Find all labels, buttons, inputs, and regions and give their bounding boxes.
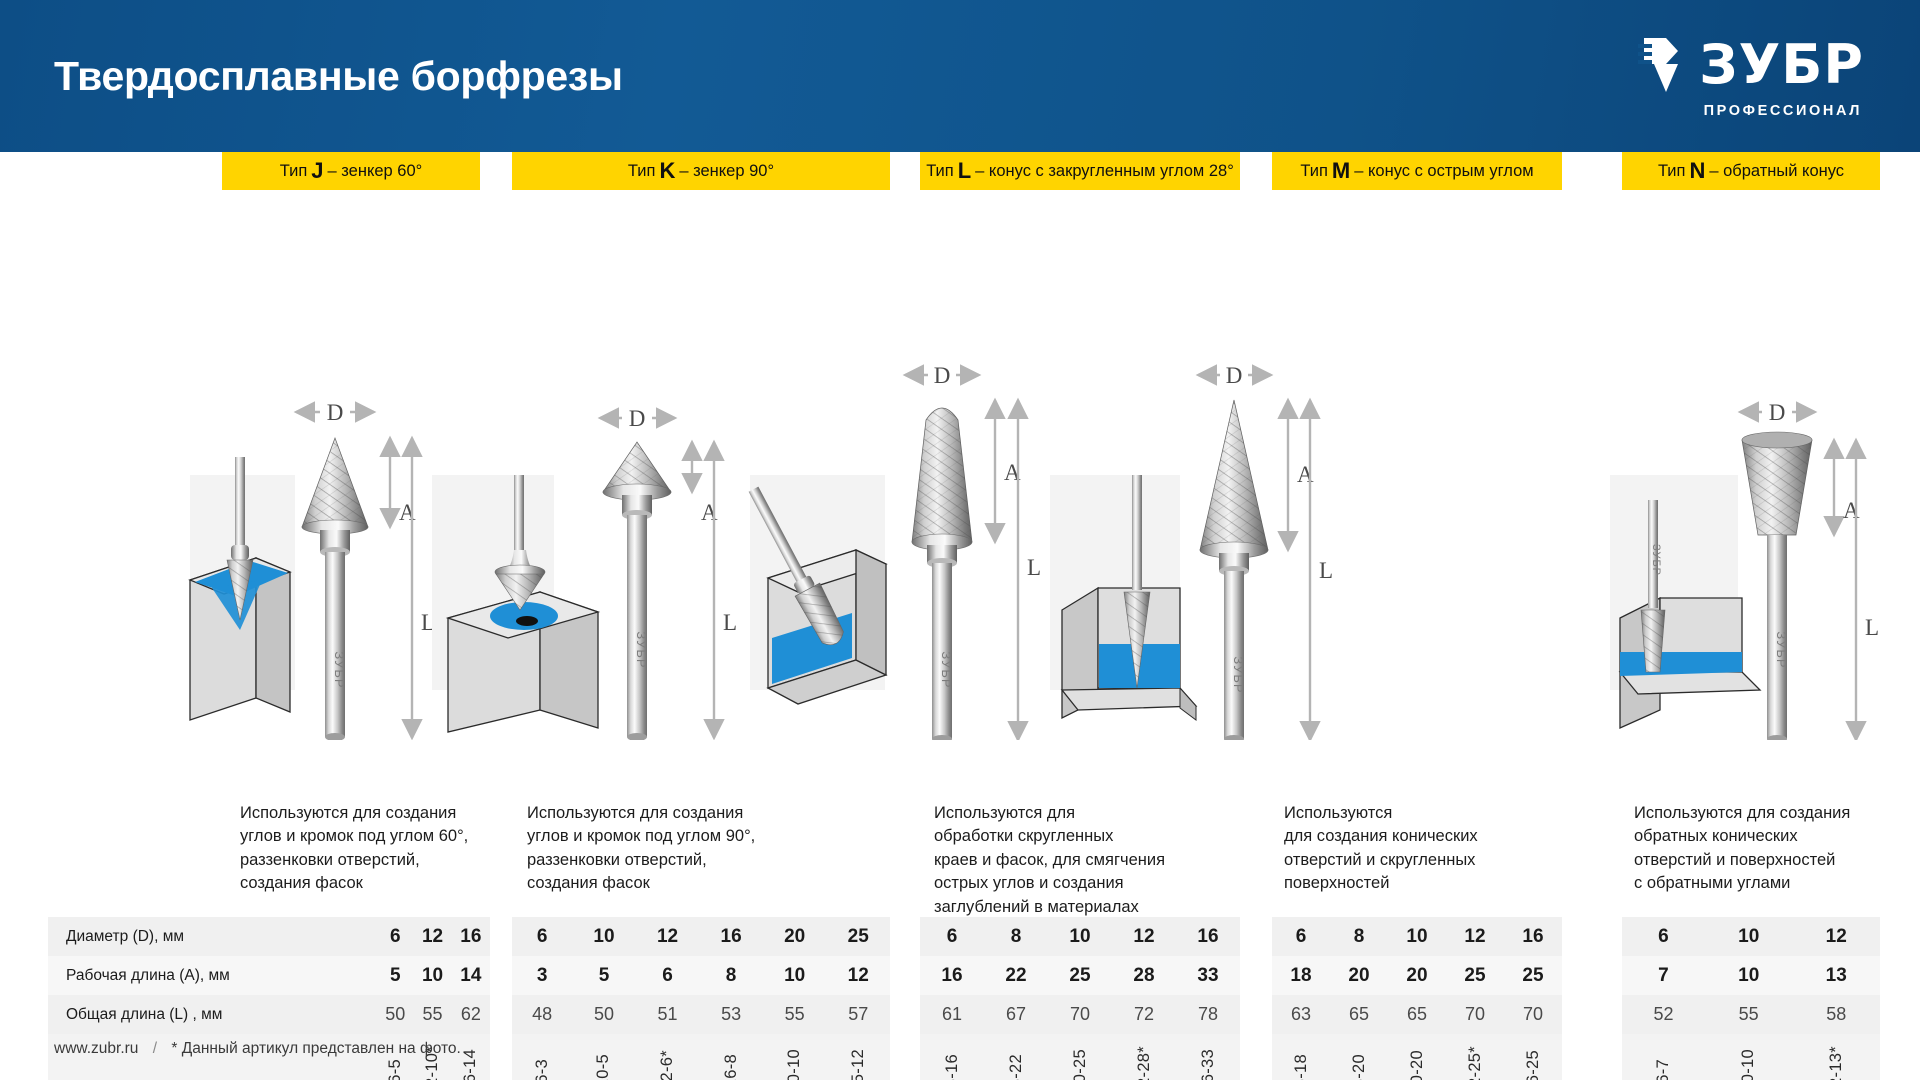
type-tag-k: Тип K – зенкер 90° (512, 152, 890, 190)
cell-value: 3 (512, 956, 572, 995)
table-row-working-length: 16 22 25 28 33 (920, 956, 1240, 995)
spec-table-k: 6 10 12 16 20 25 3 5 6 8 10 12 48 50 51 … (512, 917, 890, 1080)
cell-value: 70 (1504, 995, 1562, 1034)
cell-article: 28812-12-13* (1792, 1034, 1880, 1080)
cell-value: 12 (826, 956, 890, 995)
article-text: 28809-25-12 (849, 1049, 868, 1080)
article-text: 28810-10-25 (1071, 1049, 1090, 1080)
article-text: 28811-8-20 (1350, 1054, 1369, 1080)
svg-text:A: A (1297, 462, 1314, 487)
svg-text:D: D (934, 363, 951, 388)
svg-text:ЗУБР: ЗУБР (634, 631, 649, 668)
svg-text:L: L (1319, 558, 1333, 583)
row-label-total-length: Общая длина (L) , мм (48, 995, 377, 1034)
cell-value: 12 (1112, 917, 1176, 956)
table-row-article: 28809-6-3 28809-10-5 28809-12-6* 28809-1… (512, 1034, 890, 1080)
cell-article: 28811-10-20 (1388, 1034, 1446, 1080)
cell-article: 28809-16-8 (699, 1034, 763, 1080)
row-label-working-length: Рабочая длина (A), мм (48, 956, 377, 995)
cell-value: 55 (763, 995, 827, 1034)
type-tag-prefix: Тип (280, 162, 308, 181)
type-tag-letter: M (1328, 158, 1354, 184)
cell-value: 5 (572, 956, 636, 995)
cell-value: 51 (636, 995, 700, 1034)
article-text: 28811-10-20 (1408, 1050, 1427, 1080)
svg-text:A: A (701, 500, 718, 525)
brand-logo: ЗУБР ПРОФЕССИОНАЛ (1638, 34, 1864, 119)
type-tag-m: Тип M – конус с острым углом (1272, 152, 1562, 190)
table-row-total-length: 48 50 51 53 55 57 (512, 995, 890, 1034)
article-text: 28811-6-18 (1292, 1054, 1311, 1080)
article-text: 28809-12-6* (658, 1050, 677, 1080)
cell-value: 12 (636, 917, 700, 956)
cell-value: 20 (1330, 956, 1388, 995)
cell-value: 65 (1330, 995, 1388, 1034)
cell-value: 5 (377, 956, 413, 995)
illustration-j: D ЗУБР A L (190, 400, 435, 740)
zubr-arrow-icon (1638, 34, 1690, 96)
cell-value: 25 (1504, 956, 1562, 995)
cell-value: 10 (763, 956, 827, 995)
description-l: Используются для обработки скругленных к… (934, 802, 1200, 919)
table-row-total-length: 52 55 58 (1622, 995, 1880, 1034)
cell-value: 10 (1388, 917, 1446, 956)
svg-text:D: D (1769, 400, 1786, 425)
page-header: Твердосплавные борфрезы ЗУБР ПРОФЕССИОНА… (0, 0, 1920, 152)
article-text: 28809-10-5 (594, 1054, 613, 1080)
type-tag-j: Тип J – зенкер 60° (222, 152, 480, 190)
svg-text:L: L (723, 610, 737, 635)
spec-table-m: 6 8 10 12 16 18 20 20 25 25 63 65 65 70 … (1272, 917, 1562, 1080)
article-text: 28810-6-16 (943, 1054, 962, 1080)
table-row-total-length: Общая длина (L) , мм 50 55 62 (48, 995, 490, 1034)
article-text: 28809-20-10 (785, 1049, 804, 1080)
cell-value: 6 (512, 917, 572, 956)
type-tag-suffix: – конус с острым углом (1354, 162, 1533, 181)
table-row-total-length: 63 65 65 70 70 (1272, 995, 1562, 1034)
column-type-n: Тип N – обратный конус (1622, 152, 1880, 190)
cell-value: 25 (826, 917, 890, 956)
cell-article: 28811-8-20 (1330, 1034, 1388, 1080)
cell-value: 25 (1048, 956, 1112, 995)
cell-value: 16 (1504, 917, 1562, 956)
cell-value: 55 (413, 995, 451, 1034)
footer-separator: / (143, 1040, 167, 1057)
cell-value: 61 (920, 995, 984, 1034)
cell-value: 63 (1272, 995, 1330, 1034)
cell-value: 72 (1112, 995, 1176, 1034)
illustration-k: D ЗУБР A L (432, 406, 737, 740)
cell-article: 28809-10-5 (572, 1034, 636, 1080)
type-tag-suffix: – зенкер 90° (679, 162, 774, 181)
type-tag-n: Тип N – обратный конус (1622, 152, 1880, 190)
svg-text:ЗУБР: ЗУБР (1774, 631, 1789, 668)
page-title: Твердосплавные борфрезы (54, 53, 623, 100)
cell-value: 10 (413, 956, 451, 995)
cell-value: 48 (512, 995, 572, 1034)
footer-note: * Данный артикул представлен на фото. (171, 1040, 460, 1057)
cell-value: 6 (377, 917, 413, 956)
footer: www.zubr.ru / * Данный артикул представл… (54, 1040, 461, 1058)
cell-value: 7 (1622, 956, 1705, 995)
cell-value: 6 (920, 917, 984, 956)
illustration-n: ЗУБР D ЗУБР A L (1610, 400, 1879, 740)
cell-value: 10 (1705, 956, 1793, 995)
svg-text:L: L (1027, 555, 1041, 580)
cell-value: 33 (1176, 956, 1240, 995)
cell-value: 14 (452, 956, 490, 995)
cell-article: 28812-10-10 (1705, 1034, 1793, 1080)
cell-value: 16 (920, 956, 984, 995)
table-row-working-length: Рабочая длина (A), мм 5 10 14 (48, 956, 490, 995)
type-tag-suffix: – конус с закругленным углом 28° (975, 162, 1234, 181)
cell-article: 28811-12-25* (1446, 1034, 1504, 1080)
cell-value: 10 (572, 917, 636, 956)
svg-text:ЗУБР: ЗУБР (1231, 656, 1246, 693)
description-j: Используются для создания углов и кромок… (240, 802, 490, 896)
article-text: 28810-12-28* (1135, 1046, 1154, 1080)
type-tag-letter: J (307, 158, 327, 184)
table-row-article: 28810-6-16 28810-8-22 28810-10-25 28810-… (920, 1034, 1240, 1080)
illustrations-svg: D ЗУБР A L (0, 220, 1920, 740)
cell-article: 28810-12-28* (1112, 1034, 1176, 1080)
cell-value: 6 (1272, 917, 1330, 956)
cell-article: 28812-6-7 (1622, 1034, 1705, 1080)
article-text: 28811-12-25* (1466, 1046, 1485, 1080)
cell-article: 28809-12-6* (636, 1034, 700, 1080)
table-row-total-length: 61 67 70 72 78 (920, 995, 1240, 1034)
cell-value: 10 (1705, 917, 1793, 956)
cell-value: 50 (377, 995, 413, 1034)
svg-text:ЗУБР: ЗУБР (1650, 544, 1662, 576)
cell-value: 65 (1388, 995, 1446, 1034)
cell-value: 18 (1272, 956, 1330, 995)
type-tag-prefix: Тип (1658, 162, 1686, 181)
article-text: 28808-16-14 (461, 1049, 480, 1080)
type-tag-letter: K (655, 158, 679, 184)
cell-article: 28809-25-12 (826, 1034, 890, 1080)
cell-value: 58 (1792, 995, 1880, 1034)
article-text: 28810-8-22 (1007, 1054, 1026, 1080)
cell-value: 16 (1176, 917, 1240, 956)
cell-value: 13 (1792, 956, 1880, 995)
cell-value: 70 (1048, 995, 1112, 1034)
type-tag-letter: L (954, 158, 975, 184)
spec-table-n: 6 10 12 7 10 13 52 55 58 28812-6-7 28812… (1622, 917, 1880, 1080)
cell-value: 12 (1792, 917, 1880, 956)
cell-article: 28810-6-16 (920, 1034, 984, 1080)
description-m: Используются для создания конических отв… (1284, 802, 1534, 896)
article-text: 28812-12-13* (1827, 1046, 1846, 1080)
table-row-working-length: 7 10 13 (1622, 956, 1880, 995)
article-text: 28812-10-10 (1739, 1049, 1758, 1080)
cell-value: 10 (1048, 917, 1112, 956)
cell-value: 57 (826, 995, 890, 1034)
cell-value: 62 (452, 995, 490, 1034)
type-tag-letter: N (1685, 158, 1709, 184)
svg-text:D: D (1226, 363, 1243, 388)
table-row-working-length: 3 5 6 8 10 12 (512, 956, 890, 995)
cell-value: 53 (699, 995, 763, 1034)
svg-text:L: L (1865, 615, 1879, 640)
cell-value: 78 (1176, 995, 1240, 1034)
cell-value: 8 (1330, 917, 1388, 956)
cell-article: 28811-6-18 (1272, 1034, 1330, 1080)
table-row-working-length: 18 20 20 25 25 (1272, 956, 1562, 995)
cell-article: 28810-16-33 (1176, 1034, 1240, 1080)
cell-value: 12 (1446, 917, 1504, 956)
cell-value: 16 (452, 917, 490, 956)
cell-value: 6 (636, 956, 700, 995)
article-text: 28809-16-8 (722, 1054, 741, 1080)
svg-text:ЗУБР: ЗУБР (939, 651, 954, 688)
table-row-diameter: Диаметр (D), мм 6 12 16 (48, 917, 490, 956)
cell-value: 70 (1446, 995, 1504, 1034)
cell-article: 28810-10-25 (1048, 1034, 1112, 1080)
cell-value: 22 (984, 956, 1048, 995)
description-n: Используются для создания обратных конич… (1634, 802, 1894, 896)
article-text: 28811-16-25 (1524, 1050, 1543, 1080)
cell-value: 55 (1705, 995, 1793, 1034)
type-tag-prefix: Тип (926, 162, 954, 181)
product-board: Тип J – зенкер 60° Тип K – зенкер 90° Ти… (0, 152, 1920, 1080)
cell-value: 12 (413, 917, 451, 956)
type-tag-suffix: – зенкер 60° (328, 162, 423, 181)
type-tag-suffix: – обратный конус (1709, 162, 1844, 181)
cell-value: 50 (572, 995, 636, 1034)
column-type-l: Тип L – конус с закругленным углом 28° (920, 152, 1240, 190)
cell-value: 20 (1388, 956, 1446, 995)
svg-text:D: D (327, 400, 344, 425)
cell-value: 16 (699, 917, 763, 956)
table-row-article: 28812-6-7 28812-10-10 28812-12-13* (1622, 1034, 1880, 1080)
article-text: 28810-16-33 (1199, 1049, 1218, 1080)
type-tag-l: Тип L – конус с закругленным углом 28° (920, 152, 1240, 190)
row-label-diameter: Диаметр (D), мм (48, 917, 377, 956)
brand-tagline: ПРОФЕССИОНАЛ (1704, 103, 1862, 119)
cell-article: 28811-16-25 (1504, 1034, 1562, 1080)
article-text: 28812-6-7 (1654, 1059, 1673, 1080)
cell-value: 6 (1622, 917, 1705, 956)
table-row-diameter: 6 8 10 12 16 (1272, 917, 1562, 956)
svg-text:ЗУБР: ЗУБР (332, 651, 347, 688)
cell-value: 8 (984, 917, 1048, 956)
table-row-diameter: 6 8 10 12 16 (920, 917, 1240, 956)
cell-article: 28810-8-22 (984, 1034, 1048, 1080)
column-type-m: Тип M – конус с острым углом (1272, 152, 1562, 190)
cell-value: 52 (1622, 995, 1705, 1034)
table-row-diameter: 6 10 12 (1622, 917, 1880, 956)
type-tag-prefix: Тип (628, 162, 656, 181)
table-row-diameter: 6 10 12 16 20 25 (512, 917, 890, 956)
column-type-k: Тип K – зенкер 90° (512, 152, 890, 190)
illustration-l: D ЗУБР A L (742, 363, 1041, 740)
svg-text:D: D (629, 406, 646, 431)
brand-name: ЗУБР (1699, 40, 1864, 90)
illustration-m: D ЗУБР A L (1050, 363, 1333, 740)
type-tag-prefix: Тип (1300, 162, 1328, 181)
spec-table-l: 6 8 10 12 16 16 22 25 28 33 61 67 70 72 … (920, 917, 1240, 1080)
column-type-j: Тип J – зенкер 60° (222, 152, 480, 190)
article-text: 28808-6-5 (386, 1059, 405, 1080)
cell-article: 28809-6-3 (512, 1034, 572, 1080)
footer-website[interactable]: www.zubr.ru (54, 1040, 138, 1057)
svg-text:A: A (399, 500, 416, 525)
svg-text:A: A (1843, 498, 1860, 523)
cell-article: 28809-20-10 (763, 1034, 827, 1080)
cell-value: 20 (763, 917, 827, 956)
cell-value: 67 (984, 995, 1048, 1034)
cell-value: 25 (1446, 956, 1504, 995)
article-text: 28809-6-3 (533, 1059, 552, 1080)
cell-value: 8 (699, 956, 763, 995)
table-row-article: 28811-6-18 28811-8-20 28811-10-20 28811-… (1272, 1034, 1562, 1080)
description-k: Используются для создания углов и кромок… (527, 802, 797, 896)
cell-value: 28 (1112, 956, 1176, 995)
